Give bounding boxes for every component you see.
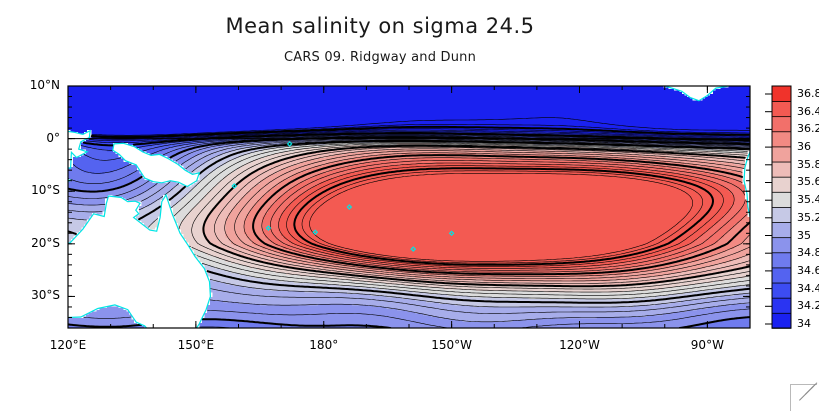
y-axis-tick-label: 30°S [6, 288, 60, 302]
y-axis-tick-label: 10°N [6, 78, 60, 92]
colorbar-tick-label: 34.6 [797, 264, 819, 277]
figure-canvas: Mean salinity on sigma 24.5 CARS 09. Rid… [0, 0, 819, 413]
colorbar-tick-label: 35.8 [797, 158, 819, 171]
colorbar-tick-label: 35.4 [797, 193, 819, 206]
colorbar-tick-label: 34.2 [797, 299, 819, 312]
colorbar-tick-label: 35.6 [797, 175, 819, 188]
colorbar-tick-label: 34.8 [797, 246, 819, 259]
y-axis-tick-label: 10°S [6, 183, 60, 197]
x-axis-tick-label: 120°W [540, 338, 620, 352]
x-axis-tick-label: 180° [284, 338, 364, 352]
colorbar-tick-label: 35 [797, 229, 811, 242]
y-axis-tick-label: 20°S [6, 236, 60, 250]
colorbar-tick-label: 34.4 [797, 282, 819, 295]
colorbar-tick-label: 36.4 [797, 105, 819, 118]
colorbar-tick-label: 36.8 [797, 87, 819, 100]
colorbar-tick-label: 35.2 [797, 211, 819, 224]
x-axis-tick-label: 120°E [28, 338, 108, 352]
x-axis-tick-label: 150°E [156, 338, 236, 352]
colorbar-tick-label: 34 [797, 317, 811, 330]
resize-handle-icon[interactable] [790, 384, 817, 411]
y-axis-tick-label: 0° [6, 131, 60, 145]
x-axis-tick-label: 150°W [412, 338, 492, 352]
colorbar-tick-label: 36.2 [797, 122, 819, 135]
colorbar-tick-label: 36 [797, 140, 811, 153]
x-axis-tick-label: 90°W [667, 338, 747, 352]
